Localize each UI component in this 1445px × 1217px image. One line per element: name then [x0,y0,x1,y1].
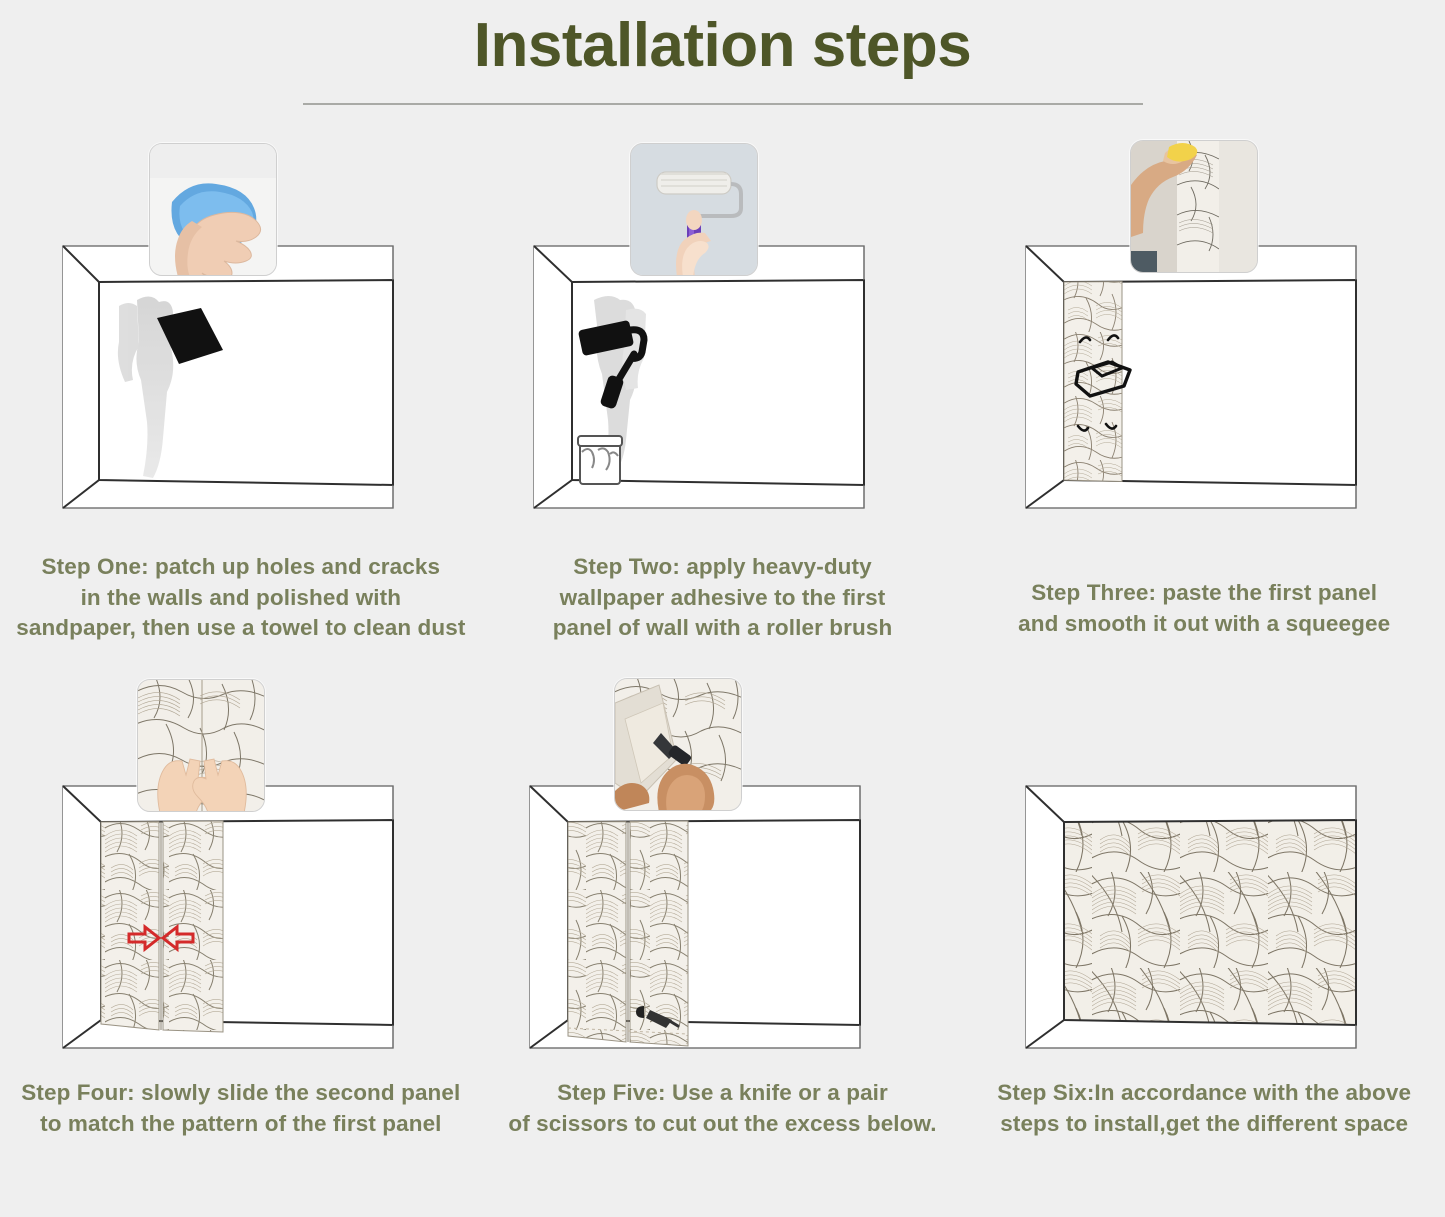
paint-bucket-icon [578,436,622,484]
step-one-illustration [41,140,441,540]
step-six-caption: Step Six:In accordance with the above st… [963,1078,1445,1139]
step-card-six: Step Six:In accordance with the above st… [963,680,1445,1217]
caption-line: to match the pattern of the first panel [0,1109,482,1140]
step-four-caption: Step Four: slowly slide the second panel… [0,1078,482,1139]
step-one-caption: Step One: patch up holes and cracks in t… [0,552,482,644]
step-three-photo-inset [1130,140,1258,273]
caption-line: wallpaper adhesive to the first [482,583,964,614]
caption-line: Step Six:In accordance with the above [963,1078,1445,1109]
room-diagram-six [1004,680,1404,1080]
wallpaper-panel-one-overhanging [568,822,626,1042]
caption-line: Step Three: paste the first panel [963,578,1445,609]
wallpaper-panel-one [1064,282,1122,482]
caption-line: Step Two: apply heavy-duty [482,552,964,583]
caption-line: in the walls and polished with [0,583,482,614]
step-card-three: Step Three: paste the first panel and sm… [963,140,1445,680]
step-five-caption: Step Five: Use a knife or a pair of scis… [482,1078,964,1139]
step-one-photo-inset [149,143,277,276]
step-card-one: Step One: patch up holes and cracks in t… [0,140,482,680]
wallpaper-panel-one [101,822,159,1030]
step-four-illustration [41,680,441,1080]
page-title: Installation steps [0,0,1445,81]
step-five-illustration [522,680,922,1080]
caption-line: of scissors to cut out the excess below. [482,1109,964,1140]
step-three-caption: Step Three: paste the first panel and sm… [963,578,1445,639]
step-two-illustration [522,140,922,540]
wallpaper-panel-two [163,821,223,1032]
step-five-photo-inset [614,678,742,811]
installation-steps-infographic: Installation steps [0,0,1445,1217]
step-card-two: Step Two: apply heavy-duty wallpaper adh… [482,140,964,680]
step-six-illustration [1004,680,1404,1080]
caption-line: and smooth it out with a squeegee [963,609,1445,640]
title-divider [303,103,1143,105]
caption-line: Step Four: slowly slide the second panel [0,1078,482,1109]
caption-line: sandpaper, then use a towel to clean dus… [0,613,482,644]
steps-grid: Step One: patch up holes and cracks in t… [0,140,1445,1217]
wallpapered-back-wall [1064,820,1356,1025]
caption-line: Step Five: Use a knife or a pair [482,1078,964,1109]
caption-line: steps to install,get the different space [963,1109,1445,1140]
step-two-caption: Step Two: apply heavy-duty wallpaper adh… [482,552,964,644]
step-three-illustration [1004,140,1404,540]
caption-line: panel of wall with a roller brush [482,613,964,644]
step-four-photo-inset [137,679,265,812]
step-two-photo-inset [630,143,758,276]
caption-line: Step One: patch up holes and cracks [0,552,482,583]
step-card-four: Step Four: slowly slide the second panel… [0,680,482,1217]
step-card-five: Step Five: Use a knife or a pair of scis… [482,680,964,1217]
